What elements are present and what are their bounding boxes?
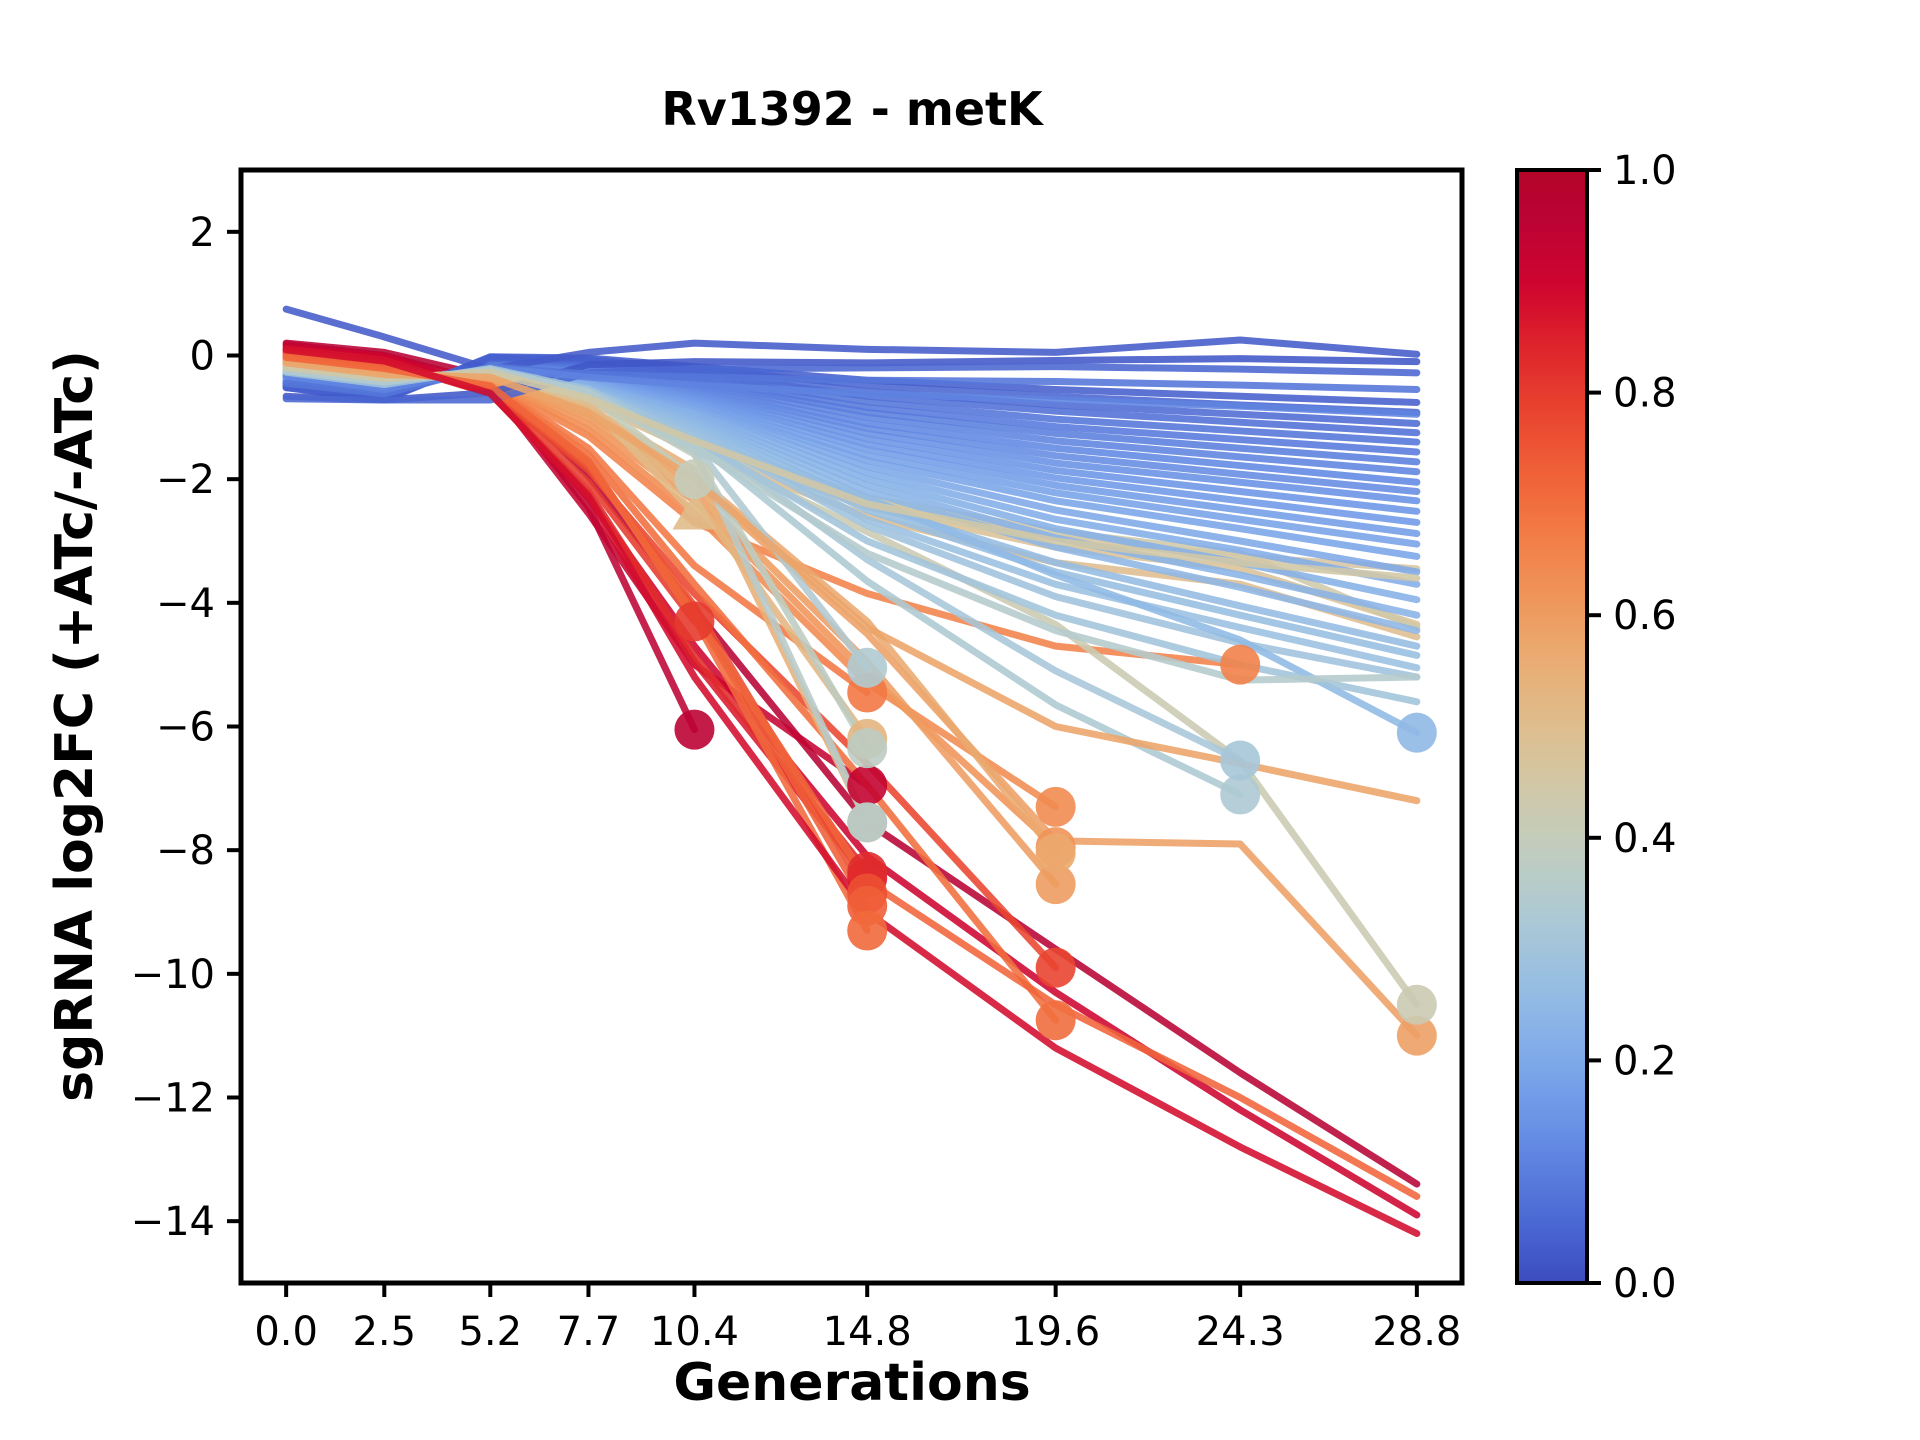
x-tick-label: 10.4 [650,1309,739,1355]
y-tick-label: −8 [156,828,215,874]
x-tick-label: 24.3 [1196,1309,1285,1355]
y-tick-label: −4 [156,581,215,627]
y-tick-label: 0 [190,334,215,380]
series-marker-circle [1220,645,1260,685]
series-marker-circle [1036,787,1076,827]
series-marker-circle [1220,741,1260,781]
x-axis-label: Generations [673,1353,1030,1413]
series-marker-circle [1397,713,1437,753]
series-marker-circle [847,728,887,768]
x-tick-label: 28.8 [1372,1309,1461,1355]
colorbar-tick-label: 0.8 [1613,371,1677,417]
y-tick-label: −6 [156,705,215,751]
y-tick-label: 2 [190,210,215,256]
y-tick-label: −14 [131,1199,215,1245]
colorbar-gradient[interactable] [1517,170,1587,1283]
series-marker-circle [674,601,714,641]
series-marker-circle [847,802,887,842]
colorbar-tick-label: 0.0 [1613,1261,1677,1307]
y-tick-label: −2 [156,457,215,503]
figure-background [0,0,1920,1440]
series-marker-circle [1036,1000,1076,1040]
x-tick-label: 19.6 [1011,1309,1100,1355]
colorbar-tick-label: 1.0 [1613,148,1677,194]
y-tick-label: −10 [131,952,215,998]
series-marker-circle [674,710,714,750]
series-marker-circle [1397,985,1437,1025]
series-marker-circle [1036,948,1076,988]
x-tick-label: 2.5 [352,1309,416,1355]
series-marker-circle [847,911,887,951]
colorbar-tick-label: 0.4 [1613,816,1677,862]
colorbar-tick-label: 0.6 [1613,593,1677,639]
x-tick-label: 7.7 [557,1309,621,1355]
series-marker-circle [847,765,887,805]
series-marker-circle [1220,775,1260,815]
chart-figure: Rv1392 - metK 0.02.55.27.710.414.819.624… [0,0,1920,1440]
y-axis-label: sgRNA log2FC (+ATc/-ATc) [45,350,105,1102]
series-marker-circle [847,648,887,688]
page-title: Rv1392 - metK [661,82,1045,136]
line-chart-svg: Rv1392 - metK 0.02.55.27.710.414.819.624… [0,0,1920,1440]
x-tick-label: 0.0 [254,1309,318,1355]
y-tick-label: −12 [131,1076,215,1122]
series-marker-circle [1036,833,1076,873]
series-marker-circle [674,459,714,499]
x-tick-label: 14.8 [823,1309,912,1355]
x-tick-label: 5.2 [458,1309,522,1355]
colorbar-tick-label: 0.2 [1613,1038,1677,1084]
